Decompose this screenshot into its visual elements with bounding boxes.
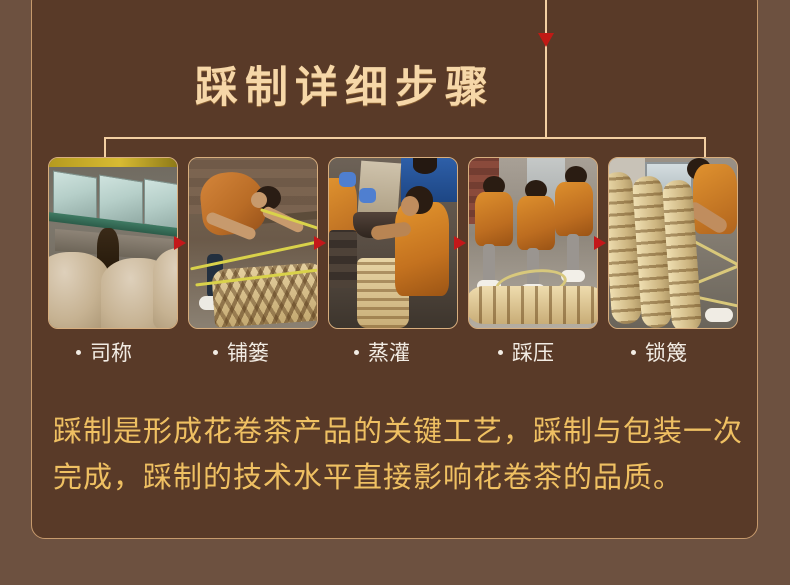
bullet-icon bbox=[498, 350, 503, 355]
step-photo-5[interactable] bbox=[608, 157, 738, 329]
photo-scene-cai-ya bbox=[469, 158, 597, 328]
step-caption-2: 铺篓 bbox=[213, 336, 363, 370]
step-label-5: 锁篾 bbox=[645, 341, 687, 365]
photo-scene-suo-mie bbox=[609, 158, 737, 328]
step-photo-4[interactable] bbox=[468, 157, 598, 329]
step-photo-2[interactable] bbox=[188, 157, 318, 329]
step-caption-5: 锁篾 bbox=[631, 336, 781, 370]
step-label-1: 司称 bbox=[90, 341, 132, 365]
step-photo-strip bbox=[48, 157, 742, 329]
steps-bracket-connector bbox=[104, 137, 706, 159]
photo-scene-pu-lou bbox=[189, 158, 317, 328]
step-label-3: 蒸灌 bbox=[368, 341, 410, 365]
step-label-2: 铺篓 bbox=[227, 341, 269, 365]
bullet-icon bbox=[354, 350, 359, 355]
flow-arrow-icon-1 bbox=[174, 236, 186, 250]
bullet-icon bbox=[213, 350, 218, 355]
step-label-4: 踩压 bbox=[512, 341, 554, 365]
header-stem-line bbox=[545, 0, 547, 139]
page-title: 踩制详细步骤 bbox=[150, 57, 540, 119]
step-caption-3: 蒸灌 bbox=[354, 336, 504, 370]
flow-arrow-icon-4 bbox=[594, 236, 606, 250]
down-triangle-icon bbox=[538, 33, 554, 47]
description-paragraph: 踩制是形成花卷茶产品的关键工艺，踩制与包装一次 完成，踩制的技术水平直接影响花卷… bbox=[53, 408, 729, 500]
step-photo-3[interactable] bbox=[328, 157, 458, 329]
description-line-1: 踩制是形成花卷茶产品的关键工艺，踩制与包装一次 bbox=[53, 408, 729, 454]
photo-scene-si-cheng bbox=[49, 158, 177, 328]
flow-arrow-icon-2 bbox=[314, 236, 326, 250]
description-line-2: 完成，踩制的技术水平直接影响花卷茶的品质。 bbox=[53, 454, 729, 500]
step-caption-row: 司称 铺篓 蒸灌 踩压 锁篾 bbox=[48, 336, 742, 370]
step-caption-4: 踩压 bbox=[498, 336, 648, 370]
bullet-icon bbox=[76, 350, 81, 355]
step-photo-1[interactable] bbox=[48, 157, 178, 329]
bullet-icon bbox=[631, 350, 636, 355]
promo-banner: 踩制详细步骤 bbox=[0, 0, 790, 585]
photo-scene-zheng-guan bbox=[329, 158, 457, 328]
step-caption-1: 司称 bbox=[76, 336, 226, 370]
flow-arrow-icon-3 bbox=[454, 236, 466, 250]
